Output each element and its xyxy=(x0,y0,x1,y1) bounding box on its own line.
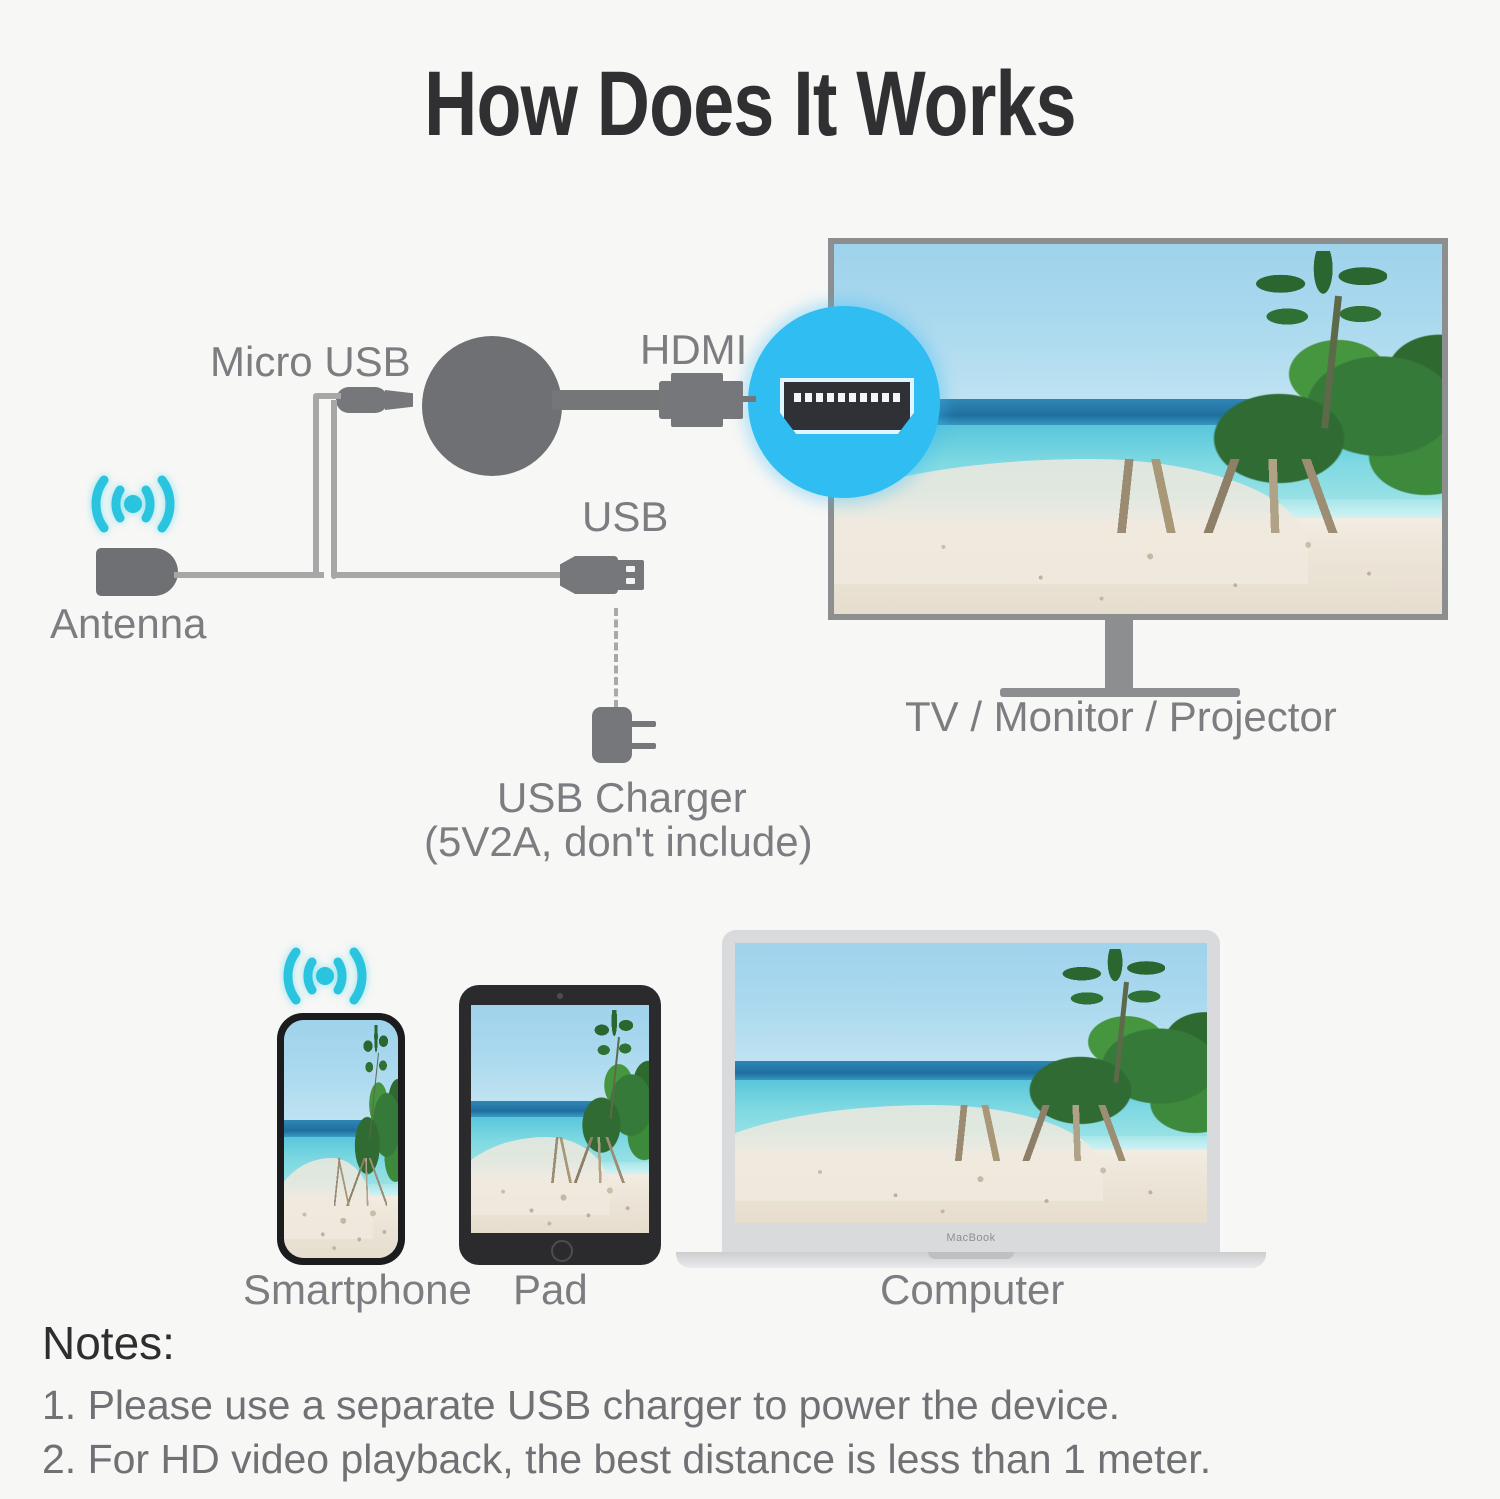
hdmi-plug-body xyxy=(671,373,723,427)
laptop-notch xyxy=(928,1252,1014,1259)
hdmi-port-icon xyxy=(780,378,914,434)
usb-charger-spec-label: (5V2A, don't include) xyxy=(424,820,813,864)
laptop-screen-image xyxy=(735,943,1207,1223)
wireless-display-dongle-icon xyxy=(422,336,562,476)
device-label-smartphone: Smartphone xyxy=(243,1268,472,1312)
hdmi-plug-pin xyxy=(742,396,756,402)
device-label-pad: Pad xyxy=(513,1268,588,1312)
usb-cable-horizontal xyxy=(335,572,563,578)
usb-a-plug-tip xyxy=(616,560,644,590)
usb-cable-vertical xyxy=(331,400,337,572)
pad-screen-image xyxy=(471,1005,649,1233)
micro-usb-label: Micro USB xyxy=(210,340,411,384)
wifi-signal-icon xyxy=(74,468,192,540)
antenna-label: Antenna xyxy=(50,602,206,646)
charger-connection-dashed-line xyxy=(614,608,618,708)
micro-usb-plug-icon xyxy=(336,387,388,413)
wifi-signal-icon xyxy=(266,940,384,1012)
charger-prong-top xyxy=(630,721,656,727)
usb-charger-label: USB Charger xyxy=(497,776,747,820)
micro-usb-cable-vertical xyxy=(313,400,319,578)
laptop-chin: MacBook xyxy=(722,1223,1220,1252)
wall-charger-icon xyxy=(592,707,632,763)
notes-heading: Notes: xyxy=(42,1316,175,1370)
antenna-icon xyxy=(96,548,178,596)
hdmi-label: HDMI xyxy=(640,328,747,372)
hdmi-plug-tip xyxy=(721,381,743,419)
device-label-computer: Computer xyxy=(880,1268,1064,1312)
page-title: How Does It Works xyxy=(150,58,1350,150)
note-item: 2. For HD video playback, the best dista… xyxy=(42,1436,1211,1483)
how-it-works-diagram: How Does It Works TV / Monitor / Project… xyxy=(0,0,1500,1499)
charger-prong-bottom xyxy=(630,743,656,749)
smartphone xyxy=(277,1013,405,1265)
micro-usb-plug-tip xyxy=(385,390,413,410)
note-item: 1. Please use a separate USB charger to … xyxy=(42,1382,1120,1429)
micro-usb-cable-horizontal xyxy=(317,393,341,399)
pad-camera-icon xyxy=(557,993,563,999)
usb-a-plug-icon xyxy=(560,556,618,594)
tv-neck xyxy=(1105,620,1133,692)
laptop-brand-label: MacBook xyxy=(946,1232,995,1244)
hdmi-callout-circle xyxy=(748,306,940,498)
smartphone-screen-image xyxy=(284,1020,398,1258)
hdmi-cable xyxy=(552,390,662,410)
usb-a-pin-top xyxy=(626,566,635,572)
usb-a-pin-bottom xyxy=(626,578,635,584)
pad-home-button[interactable] xyxy=(551,1240,573,1262)
usb-label: USB xyxy=(582,495,668,539)
tv-label: TV / Monitor / Projector xyxy=(905,695,1337,739)
antenna-cable xyxy=(174,572,324,578)
